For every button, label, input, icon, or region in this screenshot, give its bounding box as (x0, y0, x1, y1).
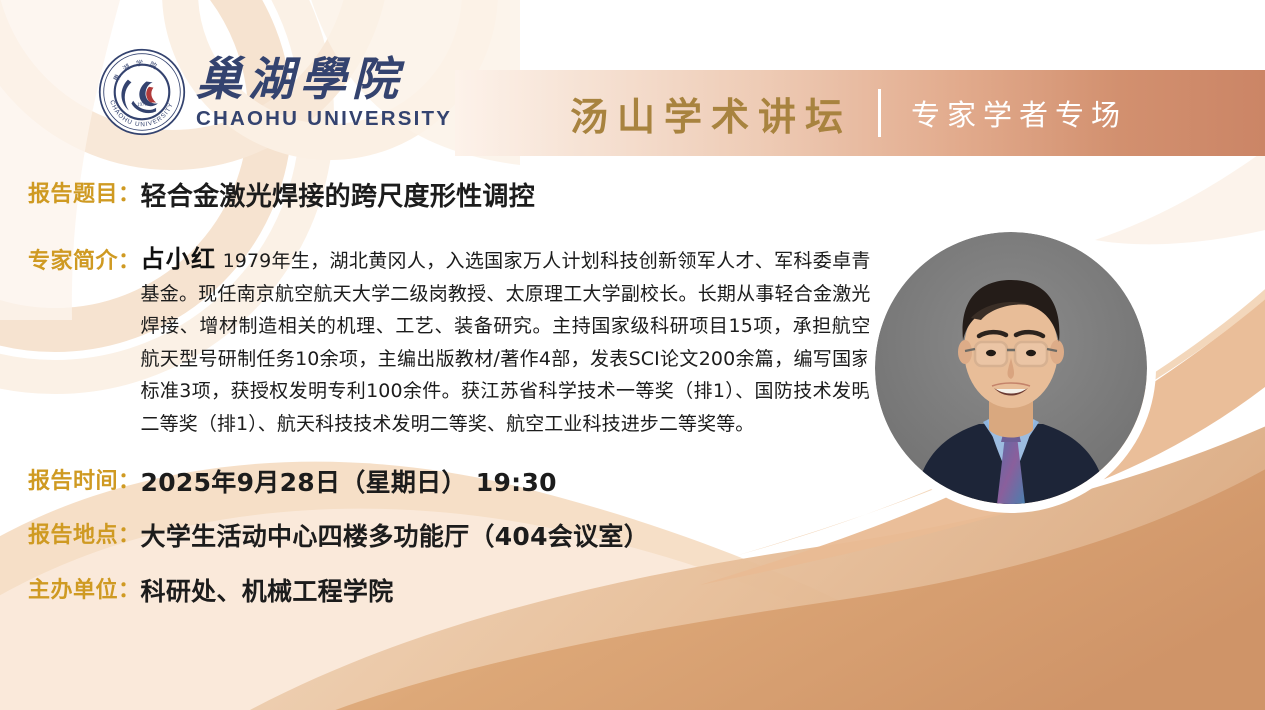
value-report-title: 轻合金激光焊接的跨尺度形性调控 (141, 176, 536, 213)
field-row-place: 报告地点： 大学生活动中心四楼多功能厅（404会议室） (28, 517, 649, 553)
value-report-time: 2025年9月28日（星期日） 19:30 (141, 463, 557, 499)
value-host-unit: 科研处、机械工程学院 (141, 572, 394, 608)
field-row-bio: 专家简介： 占小红 1979年生，湖北黄冈人，入选国家万人计划科技创新领军人才、… (28, 243, 871, 440)
label-speaker-bio: 专家简介： (28, 243, 141, 275)
field-row-title: 报告题目： 轻合金激光焊接的跨尺度形性调控 (28, 176, 535, 213)
field-row-host: 主办单位： 科研处、机械工程学院 (28, 572, 394, 608)
field-row-time: 报告时间： 2025年9月28日（星期日） 19:30 (28, 463, 557, 499)
seminar-poster: 1977 巢 湖 学 院 CHAOHU UNIVERSITY 巢湖學院 CHAO… (0, 0, 1265, 710)
speaker-bio-body: 1979年生，湖北黄冈人，入选国家万人计划科技创新领军人才、军科委卓青基金。现任… (141, 250, 871, 435)
speaker-portrait-avatar (875, 232, 1147, 504)
value-speaker-bio: 占小红 1979年生，湖北黄冈人，入选国家万人计划科技创新领军人才、军科委卓青基… (141, 243, 871, 440)
value-report-place: 大学生活动中心四楼多功能厅（404会议室） (141, 517, 650, 553)
label-report-title: 报告题目： (28, 176, 141, 208)
speaker-name: 占小红 (141, 245, 217, 273)
label-report-time: 报告时间： (28, 463, 141, 495)
label-report-place: 报告地点： (28, 517, 141, 549)
label-host-unit: 主办单位： (28, 572, 141, 604)
